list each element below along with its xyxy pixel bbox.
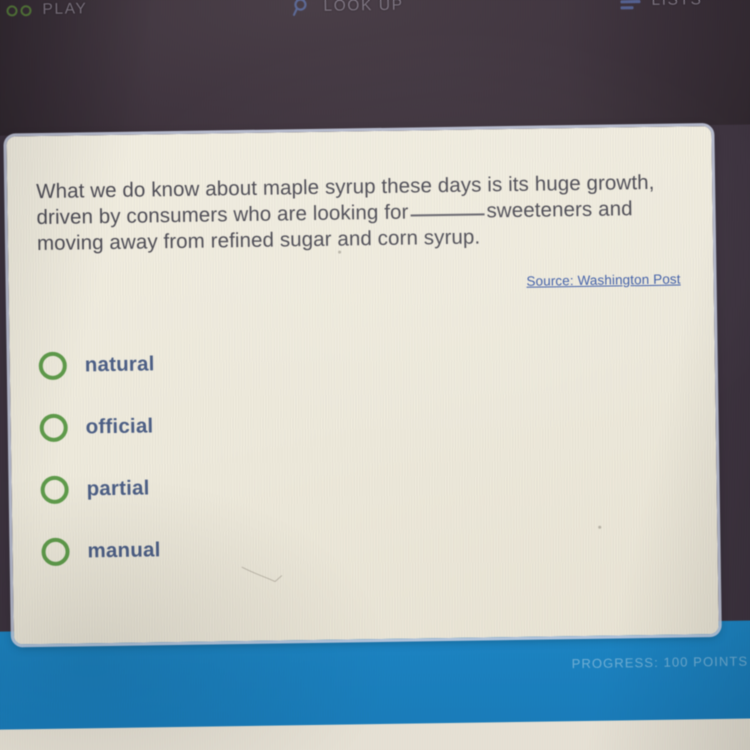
answer-option-label: natural [85,352,155,377]
nav-item-lists[interactable]: LISTS [620,0,702,10]
answer-option-natural[interactable]: natural [38,326,679,397]
header-vignette [0,0,750,136]
dust-speck [598,526,601,529]
radio-button-icon[interactable] [39,414,67,442]
photographed-monitor-scene: PLAY LOOK UP LISTS PROGRESS: 100 POINTS … [0,0,750,750]
answer-option-label: manual [87,538,160,563]
dust-speck [338,251,341,254]
dice-icon [6,5,31,16]
radio-button-icon[interactable] [41,538,69,566]
quiz-screen: PLAY LOOK UP LISTS PROGRESS: 100 POINTS … [0,0,750,750]
search-icon [292,0,312,17]
radio-button-icon[interactable] [39,352,67,380]
question-card: What we do know about maple syrup these … [6,126,718,644]
answer-options-list: natural official partial manual [38,326,682,583]
answer-option-label: partial [86,476,149,501]
answer-option-label: official [86,414,154,439]
answer-option-official[interactable]: official [39,388,680,459]
nav-item-play-label: PLAY [42,0,87,19]
progress-points-label: PROGRESS: 100 POINTS [572,654,749,672]
blank-placeholder [411,213,485,216]
nav-item-look-up[interactable]: LOOK UP [292,0,403,17]
answer-option-manual[interactable]: manual [41,512,682,583]
nav-item-lists-label: LISTS [651,0,702,10]
radio-button-icon[interactable] [40,476,68,504]
list-icon [620,0,640,9]
nav-item-play[interactable]: PLAY [6,0,87,19]
answer-option-partial[interactable]: partial [40,450,681,521]
question-text: What we do know about maple syrup these … [36,169,685,257]
nav-item-look-up-label: LOOK UP [323,0,403,16]
source-link[interactable]: Source: Washington Post [526,272,680,289]
